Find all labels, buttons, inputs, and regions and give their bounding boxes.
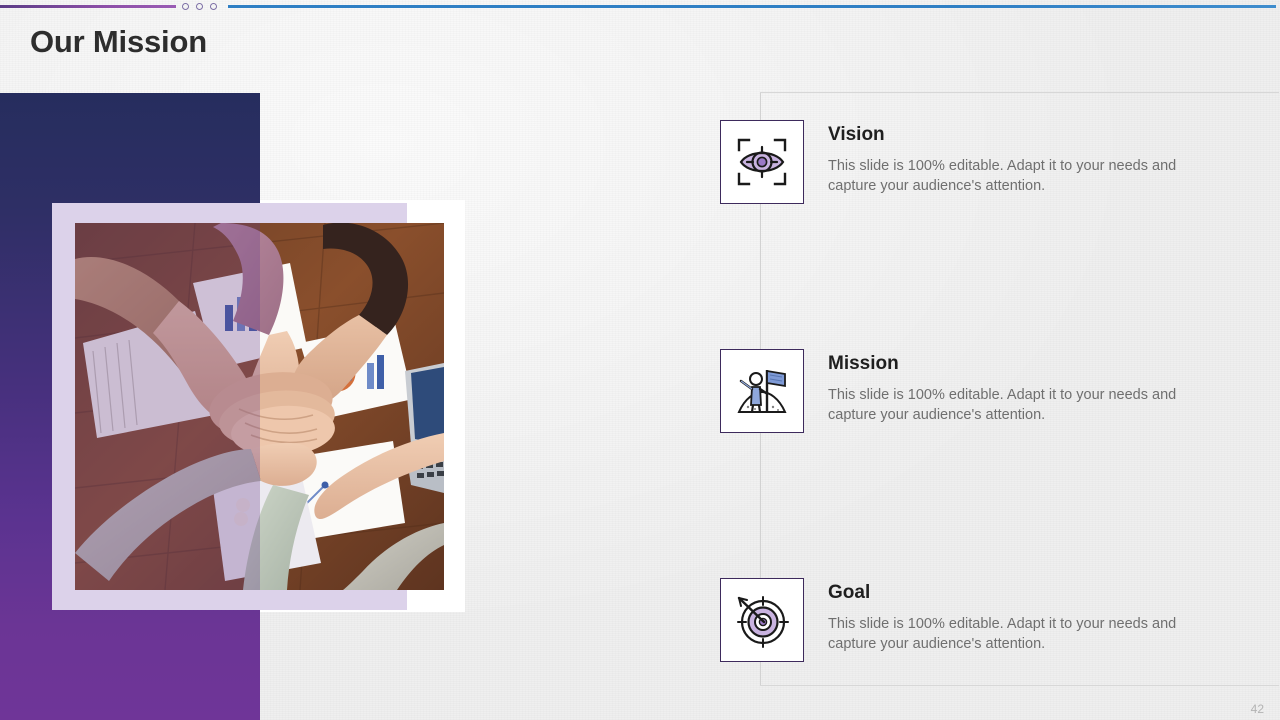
vision-title: Vision [828, 125, 1220, 146]
mission-title: Mission [828, 354, 1220, 375]
goal-icon-box[interactable] [720, 578, 804, 662]
top-rule-right [228, 5, 1276, 8]
team-photo [75, 223, 444, 590]
feature-item-vision[interactable]: Vision This slide is 100% editable. Adap… [720, 120, 1220, 208]
bracket-bottom-line [760, 685, 1279, 686]
vision-description: This slide is 100% editable. Adapt it to… [828, 156, 1220, 197]
vision-icon-box[interactable] [720, 120, 804, 204]
target-arrow-icon [731, 589, 793, 651]
feature-item-mission[interactable]: Mission This slide is 100% editable. Ada… [720, 349, 1220, 437]
top-rule-left [0, 5, 176, 8]
team-photo-artwork [75, 223, 444, 590]
goal-description: This slide is 100% editable. Adapt it to… [828, 614, 1220, 655]
goal-text-block: Goal This slide is 100% editable. Adapt … [828, 578, 1220, 655]
circle-dot-icon-3 [210, 3, 217, 10]
person-flag-hill-icon [731, 360, 793, 422]
page-number: 42 [1251, 702, 1264, 716]
mission-icon-box[interactable] [720, 349, 804, 433]
mission-text-block: Mission This slide is 100% editable. Ada… [828, 349, 1220, 426]
feature-item-goal[interactable]: Goal This slide is 100% editable. Adapt … [720, 578, 1220, 666]
page-title: Our Mission [30, 24, 207, 60]
circle-dot-icon-1 [182, 3, 189, 10]
mission-description: This slide is 100% editable. Adapt it to… [828, 385, 1220, 426]
circle-dot-icon-2 [196, 3, 203, 10]
goal-title: Goal [828, 583, 1220, 604]
eye-target-icon [731, 131, 793, 193]
top-decoration-bar [0, 0, 1280, 14]
vision-text-block: Vision This slide is 100% editable. Adap… [828, 120, 1220, 197]
bracket-top-line [760, 92, 1279, 93]
slide-root: Our Mission [0, 0, 1280, 720]
